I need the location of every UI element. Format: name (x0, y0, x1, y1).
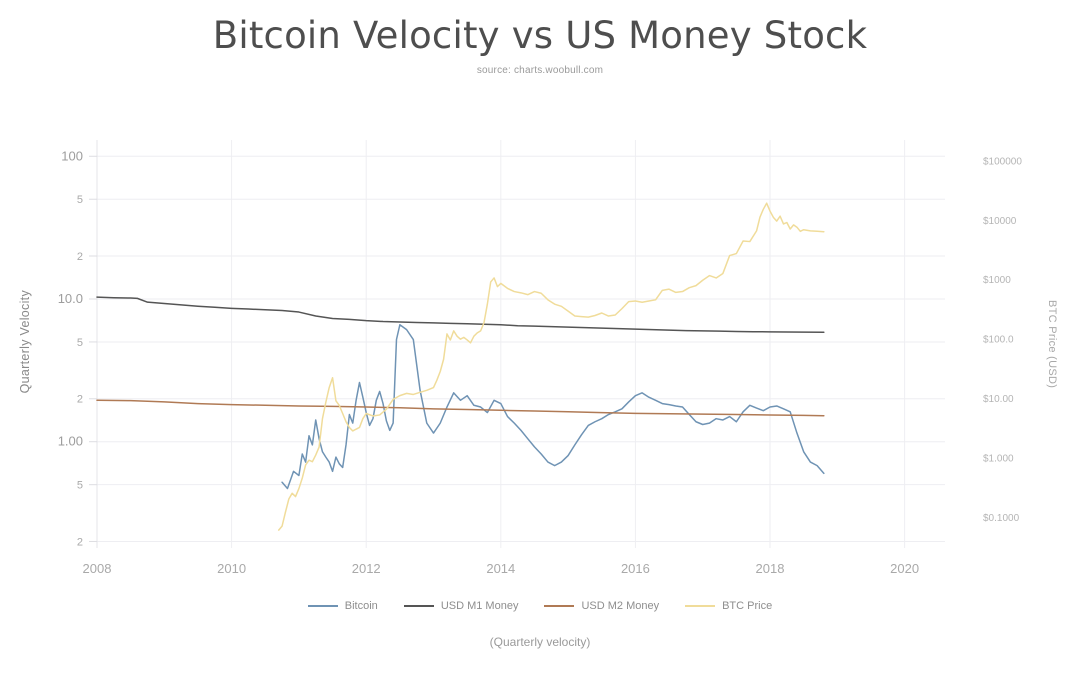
grid-lines (97, 140, 945, 548)
x-axis-tick-label: 2016 (621, 561, 650, 576)
legend-label: USD M2 Money (581, 600, 659, 612)
y-axis-tick-label: 5 (77, 194, 83, 206)
x-axis-tick-label: 2018 (756, 561, 785, 576)
legend-swatch-icon (544, 605, 574, 607)
y-axis-title-right: BTC Price (USD) (1038, 300, 1058, 388)
legend-item-btc-price[interactable]: BTC Price (685, 600, 772, 612)
y-axis-tick-label: 2 (77, 394, 83, 406)
y-axis-tick-label: 10.0 (58, 291, 83, 306)
chart-container: Bitcoin Velocity vs US Money Stock sourc… (0, 0, 1080, 675)
legend-swatch-icon (308, 605, 338, 607)
y-axis-tick-label: 100 (61, 148, 83, 163)
legend-item-usd-m1-money[interactable]: USD M1 Money (404, 600, 519, 612)
y-axis-tick-label: 5 (77, 337, 83, 349)
axis-ticks: 1005210.0521.0052$100000$10000$1000$100.… (58, 148, 1023, 576)
legend-label: Bitcoin (345, 600, 378, 612)
y2-axis-tick-label: $100.0 (983, 335, 1014, 346)
legend-item-usd-m2-money[interactable]: USD M2 Money (544, 600, 659, 612)
legend-label: USD M1 Money (441, 600, 519, 612)
legend-item-bitcoin[interactable]: Bitcoin (308, 600, 378, 612)
footer-caption: (Quarterly velocity) (0, 635, 1080, 649)
series-line-usd-m1-money (97, 297, 824, 332)
y2-axis-tick-label: $1000 (983, 275, 1011, 286)
series-line-btc-price (279, 203, 824, 530)
x-axis-tick-label: 2014 (486, 561, 515, 576)
legend-label: BTC Price (722, 600, 772, 612)
plot-area: 1005210.0521.0052$100000$10000$1000$100.… (0, 0, 1080, 675)
x-axis-tick-label: 2008 (83, 561, 112, 576)
chart-source-label: source: charts.woobull.com (0, 65, 1080, 76)
y2-axis-tick-label: $10000 (983, 216, 1017, 227)
y2-axis-tick-label: $0.1000 (983, 513, 1020, 524)
y-axis-tick-label: 2 (77, 536, 83, 548)
legend-swatch-icon (404, 605, 434, 607)
y2-axis-tick-label: $10.00 (983, 394, 1014, 405)
x-axis-tick-label: 2010 (217, 561, 246, 576)
series-line-usd-m2-money (97, 400, 824, 415)
y2-axis-tick-label: $1.000 (983, 453, 1014, 464)
y2-axis-tick-label: $100000 (983, 156, 1022, 167)
y-axis-tick-label: 2 (77, 251, 83, 263)
y-axis-title-left: Quarterly Velocity (18, 290, 38, 393)
y-axis-tick-label: 5 (77, 480, 83, 492)
legend-swatch-icon (685, 605, 715, 607)
x-axis-tick-label: 2012 (352, 561, 381, 576)
page-title: Bitcoin Velocity vs US Money Stock (0, 14, 1080, 57)
data-lines (97, 203, 824, 530)
x-axis-tick-label: 2020 (890, 561, 919, 576)
chart-legend: Bitcoin USD M1 Money USD M2 Money BTC Pr… (0, 600, 1080, 612)
y-axis-tick-label: 1.00 (58, 434, 83, 449)
